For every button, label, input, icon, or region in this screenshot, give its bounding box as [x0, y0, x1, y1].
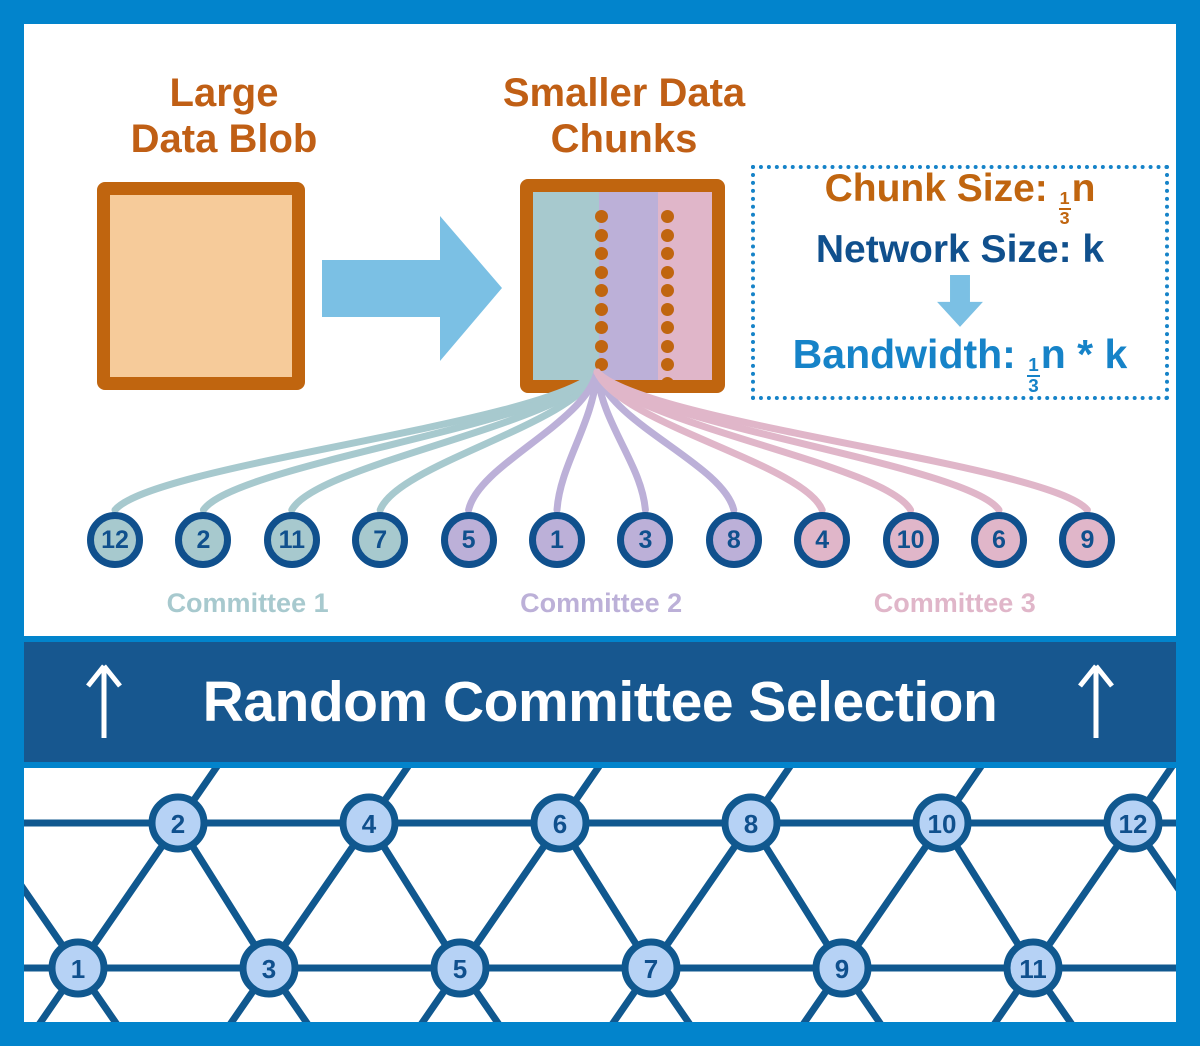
banner-title: Random Committee Selection	[24, 642, 1176, 762]
svg-text:7: 7	[644, 954, 658, 984]
svg-text:11: 11	[1019, 954, 1047, 984]
bandwidth-line: Bandwidth: 13n * k	[793, 333, 1128, 396]
committee-node-11[interactable]: 11	[264, 512, 320, 568]
committee-link	[115, 372, 597, 510]
committee-node-12[interactable]: 12	[87, 512, 143, 568]
network-mesh: 135791124681012	[24, 768, 1176, 1022]
committee-node-10[interactable]: 10	[883, 512, 939, 568]
committee-node-6[interactable]: 6	[971, 512, 1027, 568]
svg-text:5: 5	[453, 954, 467, 984]
chunk-size-numerator: 1	[1059, 190, 1071, 210]
committee-node-1[interactable]: 1	[529, 512, 585, 568]
smaller-data-chunks-heading: Smaller Data Chunks	[474, 70, 774, 162]
chunk-segment-2	[599, 192, 658, 380]
chunk-segment-1	[533, 192, 599, 380]
svg-text:10: 10	[928, 809, 957, 839]
bandwidth-fraction: 13	[1027, 356, 1040, 396]
chunks-heading-line1: Smaller Data	[474, 70, 774, 116]
committee-node-4[interactable]: 4	[794, 512, 850, 568]
committee-label-2: Committee 2	[461, 588, 741, 619]
smaller-data-chunks-box	[520, 179, 725, 393]
committee-node-3[interactable]: 3	[617, 512, 673, 568]
chunk-size-line: Chunk Size: 13n	[825, 169, 1096, 228]
blob-heading-line1: Large	[64, 70, 384, 116]
svg-text:12: 12	[1119, 809, 1148, 839]
bandwidth-suffix: n * k	[1041, 331, 1128, 377]
committee-label-3: Committee 3	[815, 588, 1095, 619]
mesh-node-6[interactable]: 6	[534, 797, 586, 849]
down-arrow-icon	[937, 275, 983, 327]
random-committee-selection-banner: Random Committee Selection	[24, 642, 1176, 762]
svg-text:1: 1	[71, 954, 85, 984]
large-data-blob-box	[97, 182, 305, 390]
committee-node-9[interactable]: 9	[1059, 512, 1115, 568]
chunk-size-label: Chunk Size:	[825, 167, 1048, 210]
bandwidth-numerator: 1	[1027, 356, 1040, 377]
chunk-divider-dots-2	[661, 210, 674, 390]
bandwidth-denominator: 3	[1027, 377, 1040, 396]
committee-node-2[interactable]: 2	[175, 512, 231, 568]
chunk-size-fraction: 13	[1059, 190, 1071, 228]
mesh-node-8[interactable]: 8	[725, 797, 777, 849]
svg-text:2: 2	[171, 809, 185, 839]
chunk-divider-dots-1	[595, 210, 608, 390]
mesh-node-11[interactable]: 11	[1007, 942, 1059, 994]
top-panel: Large Data Blob Smaller Data Chunks	[24, 24, 1176, 636]
mesh-node-4[interactable]: 4	[343, 797, 395, 849]
mesh-node-2[interactable]: 2	[152, 797, 204, 849]
committee-node-7[interactable]: 7	[352, 512, 408, 568]
blob-heading-line2: Data Blob	[64, 116, 384, 162]
diagram-root: Large Data Blob Smaller Data Chunks	[0, 0, 1200, 1046]
svg-text:8: 8	[744, 809, 758, 839]
mesh-node-12[interactable]: 12	[1107, 797, 1159, 849]
svg-text:9: 9	[835, 954, 849, 984]
mesh-node-10[interactable]: 10	[916, 797, 968, 849]
svg-text:4: 4	[362, 809, 377, 839]
network-mesh-panel: 135791124681012	[24, 768, 1176, 1022]
right-arrow-icon	[322, 216, 502, 361]
network-size-line: Network Size: k	[816, 230, 1104, 271]
mesh-node-1[interactable]: 1	[52, 942, 104, 994]
svg-text:6: 6	[553, 809, 567, 839]
committee-node-5[interactable]: 5	[441, 512, 497, 568]
large-data-blob-heading: Large Data Blob	[64, 70, 384, 162]
committee-node-8[interactable]: 8	[706, 512, 762, 568]
mesh-node-3[interactable]: 3	[243, 942, 295, 994]
chunk-size-suffix: n	[1072, 167, 1096, 210]
bandwidth-label: Bandwidth:	[793, 331, 1016, 377]
up-arrow-icon-right	[1076, 664, 1116, 740]
mesh-node-5[interactable]: 5	[434, 942, 486, 994]
mesh-node-9[interactable]: 9	[816, 942, 868, 994]
metrics-info-box: Chunk Size: 13n Network Size: k Bandwidt…	[751, 165, 1169, 400]
svg-text:3: 3	[262, 954, 276, 984]
mesh-node-7[interactable]: 7	[625, 942, 677, 994]
chunks-heading-line2: Chunks	[474, 116, 774, 162]
committee-label-1: Committee 1	[108, 588, 388, 619]
chunk-size-denominator: 3	[1059, 210, 1071, 228]
